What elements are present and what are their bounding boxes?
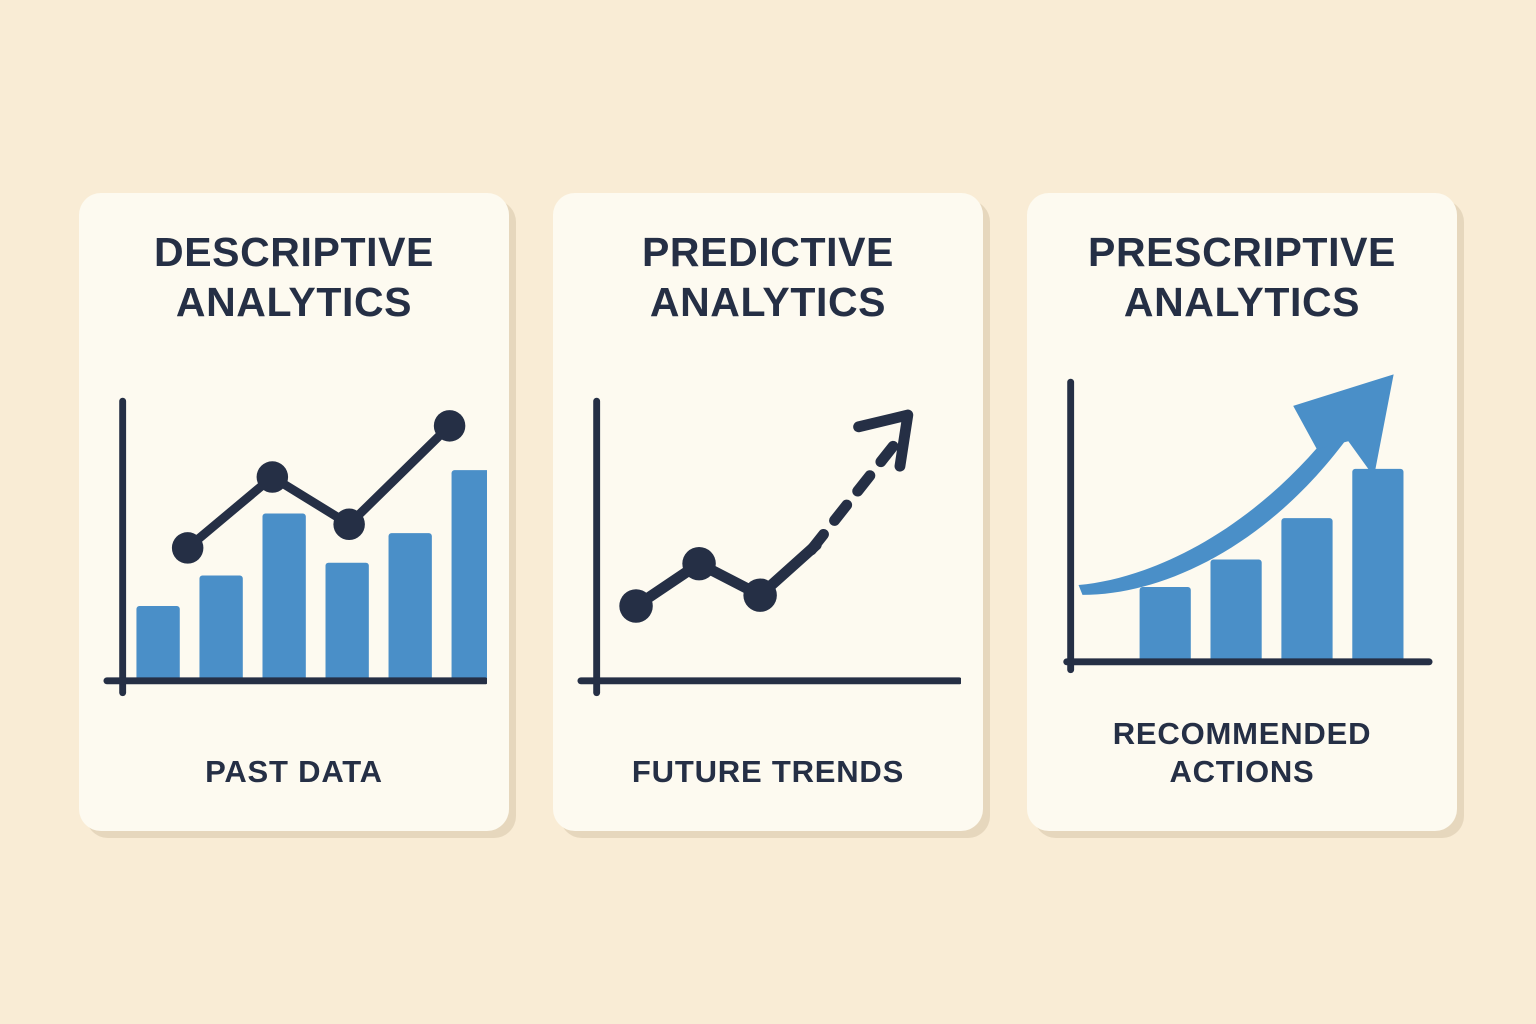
marker-2 [257,461,289,493]
card-caption-line1: RECOMMENDED [1113,716,1372,751]
infographic-canvas: DESCRIPTIVE ANALYTICS [0,0,1536,1024]
trend-line-overlay [188,426,450,548]
marker-1 [619,589,652,622]
chart-prescriptive-holder [1049,333,1435,715]
card-title-line1: PRESCRIPTIVE [1088,229,1396,275]
chart-predictive-holder [575,333,961,753]
card-title-line2: ANALYTICS [1124,279,1360,325]
marker-2 [682,547,715,580]
bar-4 [326,563,369,681]
historical-line [636,545,816,606]
card-title-prescriptive: PRESCRIPTIVE ANALYTICS [1049,227,1435,327]
card-title-descriptive: DESCRIPTIVE ANALYTICS [101,227,487,327]
bar-6 [452,470,487,681]
line-chart-dashed-arrow-icon [575,383,961,703]
card-title-line2: ANALYTICS [650,279,886,325]
card-title-line2: ANALYTICS [176,279,412,325]
card-caption-descriptive: PAST DATA [101,753,487,805]
card-prescriptive-analytics[interactable]: PRESCRIPTIVE ANALYTICS [1027,193,1457,831]
analytics-cards-row: DESCRIPTIVE ANALYTICS [0,0,1536,1024]
bar-chart-with-line-overlay-icon [101,383,487,703]
bar-4 [1352,469,1403,662]
data-point-markers [619,547,777,623]
bar-1 [1140,587,1191,662]
card-caption-line2: ACTIONS [1169,754,1314,789]
marker-3 [333,509,365,541]
marker-4 [434,410,466,442]
card-caption-predictive: FUTURE TRENDS [575,753,961,805]
growth-bars-with-curved-arrow-icon [1049,364,1435,684]
bar-3 [262,514,305,681]
card-title-predictive: PREDICTIVE ANALYTICS [575,227,961,327]
card-predictive-analytics[interactable]: PREDICTIVE ANALYTICS [553,193,983,831]
bar-5 [389,533,432,681]
card-title-line1: DESCRIPTIVE [154,229,434,275]
card-caption-prescriptive: RECOMMENDED ACTIONS [1049,715,1435,805]
card-title-line1: PREDICTIVE [642,229,894,275]
marker-3 [743,579,776,612]
chart-descriptive-holder [101,333,487,753]
bar-3 [1281,518,1332,662]
bar-1 [136,606,179,681]
marker-1 [172,532,204,564]
card-descriptive-analytics[interactable]: DESCRIPTIVE ANALYTICS [79,193,509,831]
bar-2 [199,576,242,681]
bar-2 [1210,560,1261,662]
forecast-dashed-line [811,443,896,550]
